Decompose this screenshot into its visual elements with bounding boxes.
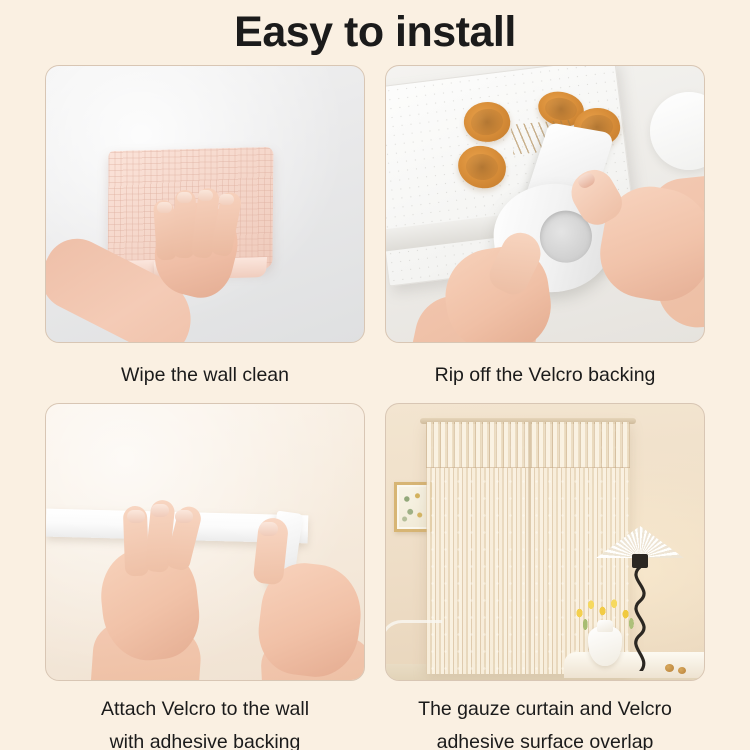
- decor-object: [665, 664, 674, 672]
- infographic-page: Easy to install: [0, 0, 750, 750]
- fingernail: [175, 510, 193, 523]
- step-card-3: Attach Velcro to the wall with adhesive …: [45, 403, 365, 750]
- fingernail: [177, 192, 192, 203]
- fingernail: [198, 190, 213, 201]
- fingernail: [151, 504, 169, 517]
- step-2-photo-rip-backing: [385, 65, 705, 343]
- step-card-1: Wipe the wall clean: [45, 65, 365, 392]
- left-hand-holding-roll: [424, 238, 584, 343]
- lamp-cap: [632, 554, 648, 568]
- fingernail: [157, 202, 172, 213]
- thumbnail: [259, 522, 278, 536]
- step-1-caption: Wipe the wall clean: [45, 343, 365, 392]
- step-card-2: Rip off the Velcro backing: [385, 65, 705, 392]
- step-card-4: The gauze curtain and Velcro adhesive su…: [385, 403, 705, 750]
- step-3-caption: Attach Velcro to the wall with adhesive …: [45, 681, 365, 750]
- curtain-center-seam: [528, 422, 531, 674]
- fingernail: [127, 510, 145, 523]
- step-2-caption: Rip off the Velcro backing: [385, 343, 705, 392]
- print-artwork: [399, 487, 427, 527]
- page-title: Easy to install: [0, 8, 750, 56]
- right-hand-pulling-strip: [232, 522, 365, 681]
- step-1-photo-wipe-wall: [45, 65, 365, 343]
- steps-grid: Wipe the wall clean: [45, 65, 705, 678]
- right-hand-peeling: [568, 154, 705, 334]
- step-4-photo-curtain-room: [385, 403, 705, 681]
- hand-wiping: [66, 186, 296, 343]
- step-3-photo-attach-velcro: [45, 403, 365, 681]
- left-hand-pressing: [86, 512, 236, 681]
- chair-silhouette: [385, 620, 442, 678]
- decor-object: [678, 667, 686, 674]
- fingernail: [219, 194, 234, 205]
- step-4-caption: The gauze curtain and Velcro adhesive su…: [385, 681, 705, 750]
